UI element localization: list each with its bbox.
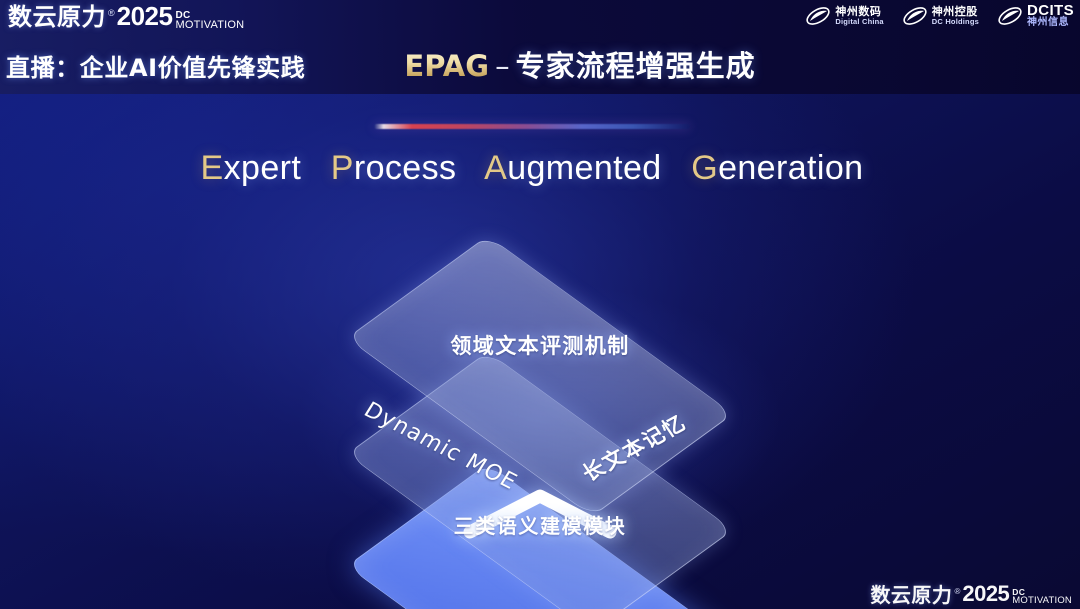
- subtitle-word-augmented: Augmented: [484, 149, 662, 187]
- footer-brand-dc-motivation: DC MOTIVATION: [1012, 589, 1072, 606]
- brand-year: 2025: [117, 3, 173, 29]
- slide-subtitle: Expert Process Augmented Generation: [0, 150, 1080, 187]
- swirl-logo-icon: [997, 3, 1023, 29]
- subtitle-rest-generation: eneration: [718, 149, 863, 187]
- gradient-divider: [374, 124, 690, 129]
- subtitle-rest-process: rocess: [354, 149, 457, 187]
- headline-chinese: 专家流程增强生成: [516, 49, 756, 83]
- subtitle-rest-augmented: ugmented: [507, 149, 661, 187]
- swirl-logo-icon: [902, 3, 928, 29]
- subtitle-space-3: [671, 149, 681, 187]
- partner-logo-row: 神州数码 Digital China 神州控股 DC Holdings: [805, 3, 1074, 29]
- logo-label-en: DCITS: [1027, 3, 1074, 18]
- subtitle-word-process: Process: [331, 149, 457, 187]
- layered-architecture-diagram: 领域文本评测机制 Dynamic MOE 长文本记忆 三类语义建模模块: [270, 218, 810, 588]
- swirl-logo-icon: [805, 3, 831, 29]
- registered-mark: ®: [108, 8, 115, 18]
- slide-canvas: 数云原力 ® 2025 DC MOTIVATION 直播：企业AI价值先锋实践 …: [0, 0, 1080, 609]
- subtitle-rest-expert: xpert: [224, 149, 302, 187]
- subtitle-cap-a: A: [484, 149, 507, 187]
- subtitle-space-1: [311, 149, 321, 187]
- subtitle-cap-e: E: [201, 149, 224, 187]
- logo-label-en: DC Holdings: [932, 18, 979, 26]
- brand-name-cn: 数云原力: [8, 5, 106, 29]
- subtitle-word-expert: Expert: [201, 149, 302, 187]
- footer-registered-mark: ®: [954, 587, 960, 596]
- brand-motivation-text: MOTIVATION: [175, 20, 244, 30]
- footer-brand-name-cn: 数云原力: [870, 585, 952, 605]
- slide-headline: EPAG–专家流程增强生成: [0, 52, 1080, 81]
- headline-acronym: EPAG: [404, 49, 489, 83]
- subtitle-cap-p: P: [331, 149, 354, 187]
- headline-dash: –: [495, 49, 510, 83]
- logo-dcits: DCITS 神州信息: [997, 3, 1074, 29]
- logo-label-en: Digital China: [835, 18, 883, 26]
- subtitle-cap-g: G: [691, 149, 718, 187]
- logo-text-dc-holdings: 神州控股 DC Holdings: [932, 6, 979, 25]
- subtitle-word-generation: Generation: [691, 149, 863, 187]
- subtitle-space-2: [466, 149, 476, 187]
- footer-brand-motivation-text: MOTIVATION: [1012, 597, 1072, 606]
- brand-lockup-header: 数云原力 ® 2025 DC MOTIVATION: [8, 3, 244, 29]
- logo-digital-china: 神州数码 Digital China: [805, 3, 883, 29]
- logo-dc-holdings: 神州控股 DC Holdings: [902, 3, 979, 29]
- brand-lockup-footer: 数云原力 ® 2025 DC MOTIVATION: [870, 583, 1072, 605]
- brand-dc-motivation: DC MOTIVATION: [175, 11, 244, 30]
- logo-text-dcits: DCITS 神州信息: [1027, 3, 1074, 29]
- footer-brand-year: 2025: [962, 583, 1009, 605]
- logo-label-cn: 神州信息: [1027, 18, 1074, 29]
- logo-text-digital-china: 神州数码 Digital China: [835, 6, 883, 25]
